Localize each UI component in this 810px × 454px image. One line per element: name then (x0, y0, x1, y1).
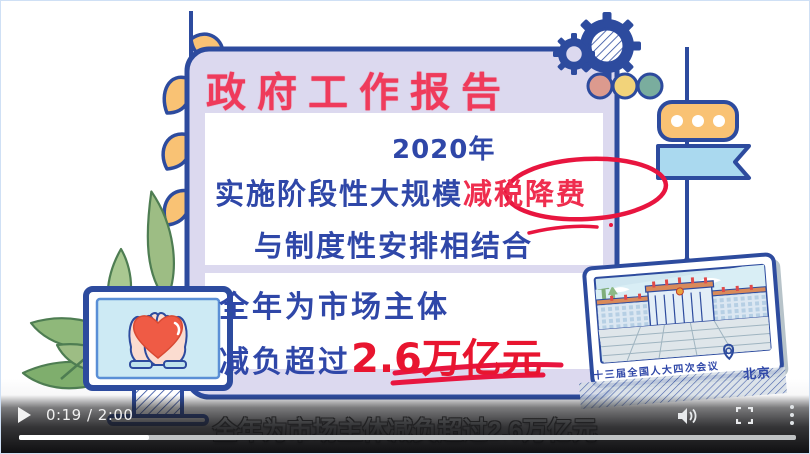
time-display: 0:19 / 2:00 (46, 406, 133, 424)
video-player-stage: 政府工作报告 2020年 实施阶段性大规模减税降费 与制度性安排相结合 全年为市… (0, 0, 810, 454)
more-dot (790, 413, 794, 417)
more-dot (790, 421, 794, 425)
ribbon-icon (658, 146, 749, 178)
speech-bubble-icon (659, 102, 737, 140)
more-dot (790, 405, 794, 409)
poster-line-2-highlight: 减税降费 (463, 177, 587, 211)
poster-line-5: 减负超过2.6万亿元 (219, 326, 542, 384)
fullscreen-button[interactable] (736, 407, 753, 424)
color-dots-decoration (588, 74, 662, 98)
poster-line-2-prefix: 实施阶段性大规模 (215, 177, 463, 211)
poster-line-4: 全年为市场主体 (219, 282, 450, 326)
poster-amount: 2.6万亿元 (351, 336, 542, 382)
control-row: 0:19 / 2:00 (1, 399, 810, 429)
poster-line-2: 实施阶段性大规模减税降费 (215, 171, 587, 213)
progress-bar-track[interactable] (19, 435, 796, 440)
gear-small-icon (553, 33, 595, 75)
poster-line-3: 与制度性安排相结合 (254, 223, 533, 265)
photo-city-label: 北京 (742, 362, 771, 383)
poster-year-line: 2020年 (392, 129, 495, 166)
video-player-controls: 0:19 / 2:00 (1, 395, 810, 453)
play-button[interactable] (15, 406, 33, 424)
progress-bar-fill (19, 435, 149, 440)
more-options-button[interactable] (790, 405, 796, 427)
poster-main-title: 政府工作报告 (206, 60, 512, 118)
volume-button[interactable] (677, 406, 697, 424)
poster-line-5-prefix: 减负超过 (219, 346, 351, 379)
